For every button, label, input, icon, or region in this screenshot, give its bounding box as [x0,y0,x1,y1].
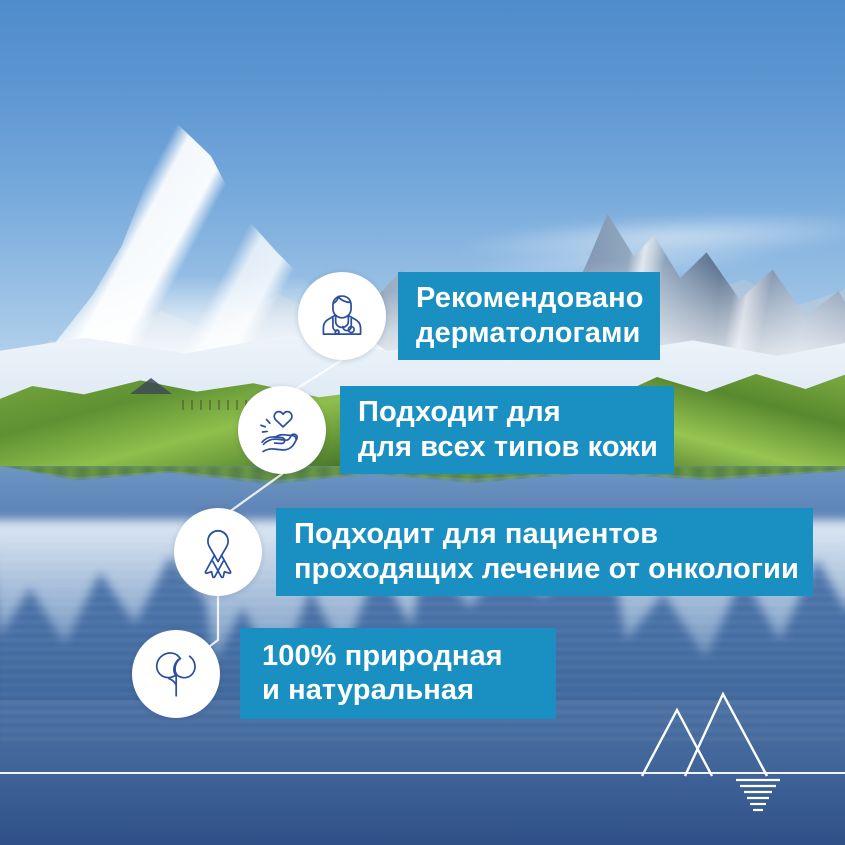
feature-line: проходящих лечение от онкологии [294,552,799,586]
leaf-sprout-icon [147,645,205,703]
feature-row-natural-and-organic: 100% природная и натуральная [132,628,556,719]
feature-line: Подходит для пациентов [294,517,799,551]
feature-line: Подходит для [358,395,658,429]
feature-row-suitable-for-all-skin-types: Подходит для для всех типов кожи [238,386,674,474]
icon-bubble-leaf[interactable] [132,630,220,718]
feature-row-recommended-by-dermatologists: Рекомендовано дерматологами [298,272,660,360]
awareness-ribbon-icon [189,523,247,581]
feature-line: 100% природная [262,639,538,673]
feature-line: для всех типов кожи [358,430,658,464]
logo-reflection-stripes [736,780,780,810]
promo-banner: Рекомендовано дерматологами Подходит для… [0,0,845,845]
feature-row-suitable-for-oncology-patients: Подходит для пациентов проходящих лечени… [174,508,813,596]
feature-badge-3: Подходит для пациентов проходящих лечени… [276,508,813,595]
feature-line: и натуральная [262,673,474,707]
feature-badge-1: Рекомендовано дерматологами [398,272,660,359]
feature-badge-4: 100% природная и натуральная [240,628,556,719]
icon-bubble-ribbon[interactable] [174,508,262,596]
doctor-stethoscope-icon [313,287,371,345]
feature-badge-2: Подходит для для всех типов кожи [340,386,674,473]
hand-heart-icon [253,401,311,459]
mountain-reflection-logo [620,668,845,818]
icon-bubble-doctor[interactable] [298,272,386,360]
icon-bubble-hand-heart[interactable] [238,386,326,474]
feature-line: дерматологами [416,316,644,350]
feature-line: Рекомендовано [416,281,644,315]
